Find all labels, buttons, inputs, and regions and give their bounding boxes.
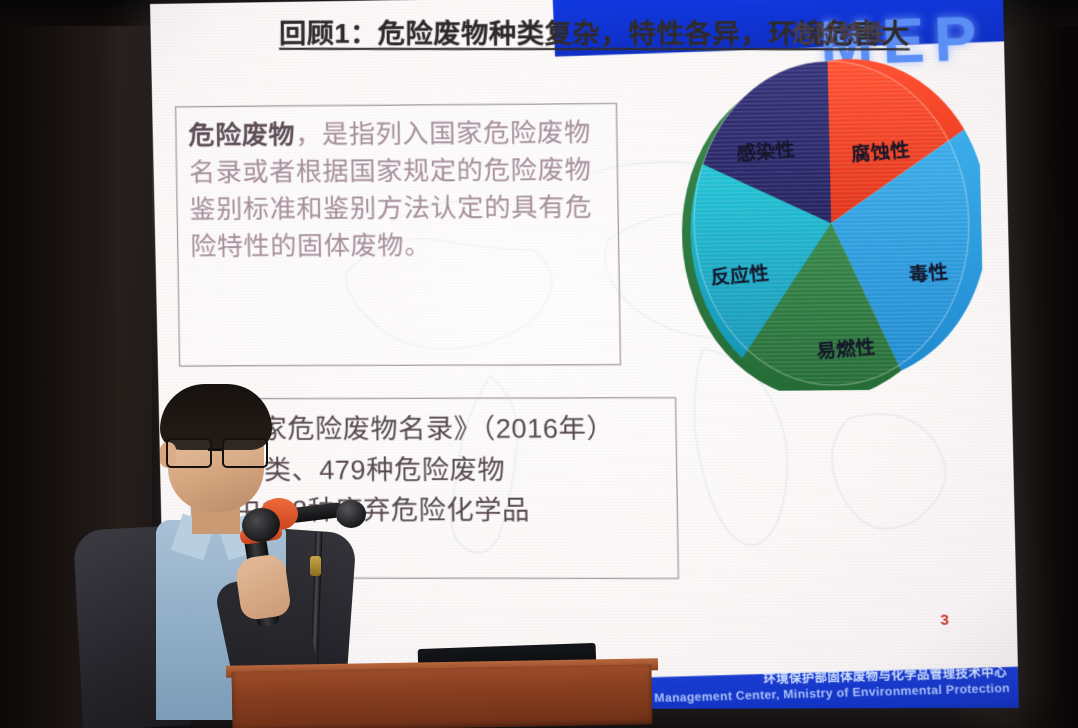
glasses-icon — [166, 438, 270, 464]
glasses-lens-left — [166, 438, 212, 468]
glasses-lens-right — [222, 438, 268, 468]
hazard-characteristics-chart: 危险特性 — [675, 1, 992, 430]
conference-photo-scene: MEP 回顾1：危险废物种类复杂，特性各异，环境危害大 危险废物，是指列入国家危… — [0, 0, 1078, 728]
pie-label-toxic: 毒性 — [908, 260, 949, 286]
hand — [234, 553, 292, 621]
definition-text: 危险废物，是指列入国家危险废物名录或者根据国家规定的危险废物鉴别标准和鉴别方法认… — [188, 114, 608, 265]
chart-title: 危险特性 — [747, 14, 932, 49]
pie-svg: 腐蚀性 毒性 易燃性 反应性 感染性 — [678, 54, 985, 392]
definition-box: 危险废物，是指列入国家危险废物名录或者根据国家规定的危险废物鉴别标准和鉴别方法认… — [175, 103, 621, 367]
mic-stand-capsule — [336, 500, 366, 528]
glasses-bridge — [208, 448, 222, 451]
podium — [232, 664, 653, 728]
slide-page-number: 3 — [940, 612, 949, 629]
definition-term: 危险废物 — [188, 119, 295, 150]
mic-stand-collar — [310, 556, 321, 576]
